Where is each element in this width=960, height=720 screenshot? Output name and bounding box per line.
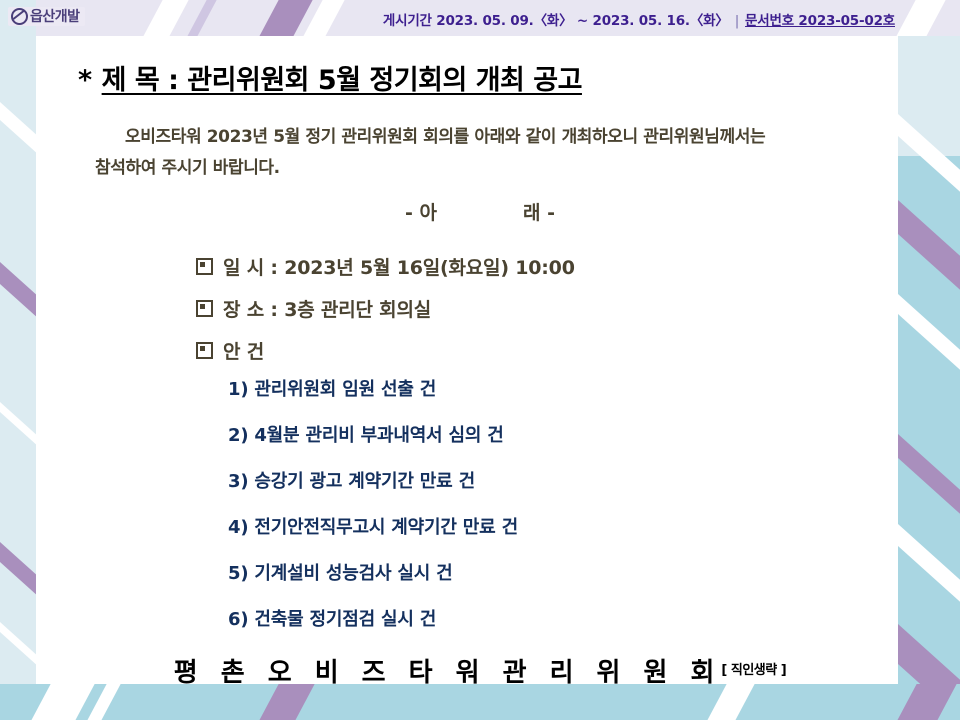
list-item: 안 건 [196,337,575,364]
decor-stripe [0,506,36,634]
decor-stripe [136,0,194,36]
signature-stamp-note: [ 직인생략 ] [721,663,786,678]
decor-stripe [252,684,320,720]
intro-paragraph-line-1: 오비즈타워 2023년 5월 정기 관리위원회 회의를 아래와 같이 개최하오니… [95,122,895,153]
title-text: 제 목 : 관리위원회 5월 정기회의 개최 공고 [102,65,582,96]
posting-period: 게시기간 2023. 05. 09.〈화〉 ~ 2023. 05. 16.〈화〉 [383,13,729,29]
agenda-item: 1)관리위원회 임원 선출 건 [228,375,518,401]
agenda-text: 4월분 관리비 부과내역서 심의 건 [254,425,503,446]
agenda-text: 전기안전직무고시 계약기간 만료 건 [254,517,518,538]
list-item-label: 일 시 : 2023년 5월 16일(화요일) 10:00 [223,253,575,280]
list-item: 일 시 : 2023년 5월 16일(화요일) 10:00 [196,253,575,280]
arae-right: 래 - [523,202,555,224]
agenda-number: 5) [228,563,248,584]
company-logo-text: 읍산개발 [30,10,80,24]
list-item: 장 소 : 3층 관리단 회의실 [196,295,575,322]
company-logo: 읍산개발 [8,7,85,26]
title-marker: * [78,65,92,96]
decor-stripe [890,684,960,720]
intro-paragraph: 오비즈타워 2023년 5월 정기 관리위원회 회의를 아래와 같이 개최하오니… [95,122,895,185]
signature-organization: 평 촌 오 비 즈 타 워 관 리 위 원 회 [174,658,722,688]
decor-stripe [180,0,222,36]
circle-slash-logo-icon [11,8,28,25]
agenda-text: 기계설비 성능검사 실시 건 [254,563,452,584]
square-bullet-icon [196,342,213,359]
agenda-item: 4)전기안전직무고시 계약기간 만료 건 [228,513,518,539]
decor-stripe [0,366,36,484]
agenda-item: 2)4월분 관리비 부과내역서 심의 건 [228,421,518,447]
decor-stripe [0,226,36,356]
left-decor-band [0,0,36,720]
agenda-text: 건축물 정기점검 실시 건 [254,609,436,630]
decor-stripe [24,684,100,720]
signature-block: 평 촌 오 비 즈 타 워 관 리 위 원 회[ 직인생략 ] [0,652,960,689]
agenda-number: 1) [228,379,248,400]
agenda-text: 승강기 광고 계약기간 만료 건 [254,471,475,492]
decor-stripe [700,684,760,720]
announcement-page: 읍산개발 게시기간 2023. 05. 09.〈화〉 ~ 2023. 05. 1… [0,0,960,720]
detail-items: 일 시 : 2023년 5월 16일(화요일) 10:00 장 소 : 3층 관… [196,253,575,379]
agenda-number: 6) [228,609,248,630]
right-decor-band [898,0,960,720]
agenda-number: 2) [228,425,248,446]
agenda-number: 3) [228,471,248,492]
document-number: 문서번호 2023-05-02호 [745,13,895,29]
intro-paragraph-line-2: 참석하여 주시기 바랍니다. [95,153,895,184]
agenda-list: 1)관리위원회 임원 선출 건 2)4월분 관리비 부과내역서 심의 건 3)승… [228,375,518,651]
arae-divider: - 아래 - [0,198,960,225]
agenda-number: 4) [228,517,248,538]
square-bullet-icon [196,300,213,317]
agenda-item: 5)기계설비 성능검사 실시 건 [228,559,518,585]
agenda-text: 관리위원회 임원 선출 건 [254,379,436,400]
header-meta: 게시기간 2023. 05. 09.〈화〉 ~ 2023. 05. 16.〈화〉… [383,9,895,29]
list-item-label: 안 건 [223,337,264,364]
page-title: *제 목 : 관리위원회 5월 정기회의 개최 공고 [78,58,582,97]
header-separator: | [729,13,745,29]
list-item-label: 장 소 : 3층 관리단 회의실 [223,295,431,322]
decor-stripe [0,66,36,192]
arae-left: - 아 [405,202,437,224]
agenda-item: 3)승강기 광고 계약기간 만료 건 [228,467,518,493]
bottom-decor-band [0,684,960,720]
square-bullet-icon [196,258,213,275]
agenda-item: 6)건축물 정기점검 실시 건 [228,605,518,631]
